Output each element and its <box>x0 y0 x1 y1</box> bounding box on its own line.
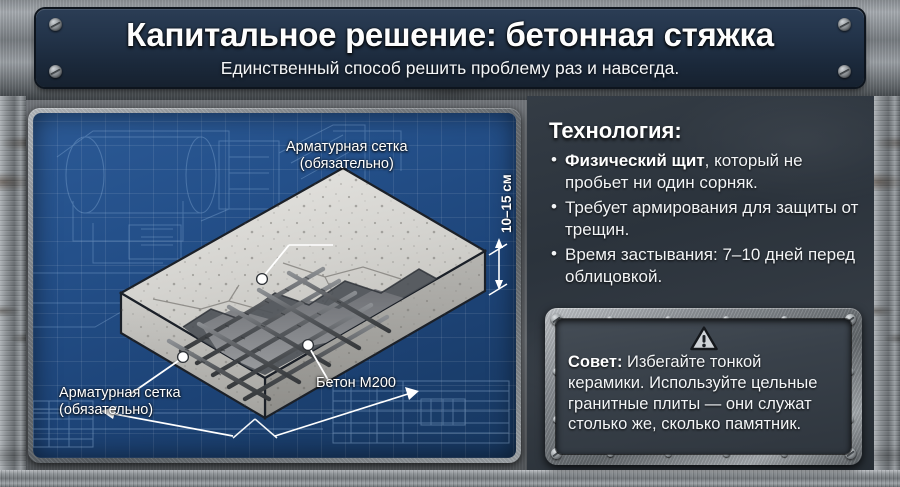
left-metal-edge <box>0 96 26 487</box>
technology-list-item: Время застывания: 7–10 дней перед облицо… <box>549 244 859 287</box>
technology-item-text: Время застывания: 7–10 дней перед облицо… <box>565 245 855 286</box>
label-rebar-mesh-bottom-line2: (обязательно) <box>59 402 181 419</box>
header-bar: Капитальное решение: бетонная стяжка Еди… <box>0 0 900 100</box>
label-concrete-grade: Бетон М200 <box>316 375 396 392</box>
technology-item-text: Требует армирования для защиты от трещин… <box>565 198 858 239</box>
label-rebar-mesh-top: Арматурная сетка (обязательно) <box>286 139 408 172</box>
technology-item-emphasis: Физический щит <box>565 151 705 170</box>
label-slab-thickness: 10–15 см <box>499 174 514 233</box>
tip-callout-frame: Совет: Избегайте тонкой керамики. Исполь… <box>545 308 862 465</box>
tip-text: Совет: Избегайте тонкой керамики. Исполь… <box>568 352 839 435</box>
blueprint-diagram: Арматурная сетка (обязательно) Арматурна… <box>33 113 516 458</box>
blueprint-panel-frame: Арматурная сетка (обязательно) Арматурна… <box>28 108 521 463</box>
label-rebar-mesh-bottom-line1: Арматурная сетка <box>59 385 181 402</box>
label-rebar-mesh-top-line1: Арматурная сетка <box>286 139 408 156</box>
right-metal-edge <box>874 96 900 487</box>
header-title-plate: Капитальное решение: бетонная стяжка Еди… <box>36 9 864 87</box>
label-rebar-mesh-top-line2: (обязательно) <box>286 156 408 173</box>
page-title: Капитальное решение: бетонная стяжка <box>36 16 864 54</box>
technology-list: Физический щит, который не пробьет ни од… <box>549 150 859 291</box>
technology-heading: Технология: <box>549 118 682 144</box>
bottom-metal-edge <box>0 470 900 487</box>
label-rebar-mesh-bottom: Арматурная сетка (обязательно) <box>59 385 181 418</box>
infographic-root: Капитальное решение: бетонная стяжка Еди… <box>0 0 900 487</box>
warning-triangle-icon <box>690 326 718 351</box>
page-subtitle: Единственный способ решить проблему раз … <box>36 58 864 79</box>
right-edge-grime <box>874 96 900 487</box>
left-edge-grime <box>0 96 26 487</box>
technology-list-item: Физический щит, который не пробьет ни од… <box>549 150 859 193</box>
tip-label: Совет: <box>568 353 622 371</box>
technology-list-item: Требует армирования для защиты от трещин… <box>549 197 859 240</box>
tip-callout-body: Совет: Избегайте тонкой керамики. Исполь… <box>556 319 851 454</box>
